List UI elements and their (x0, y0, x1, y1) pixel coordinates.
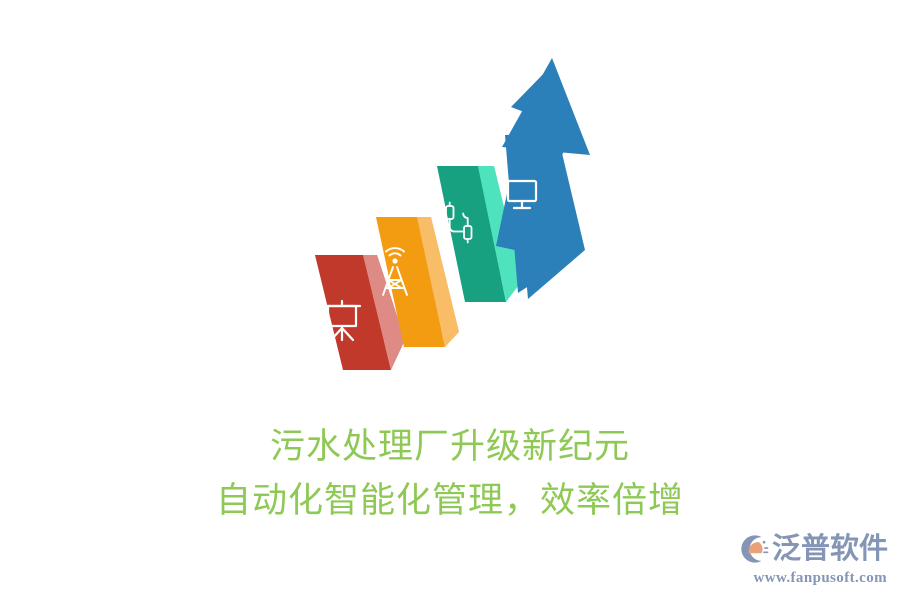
headline-block: 污水处理厂升级新纪元 自动化智能化管理，效率倍增 (0, 424, 900, 524)
brand-name: 泛普软件 (772, 532, 888, 566)
brand-logo-row: 泛普软件 (738, 530, 888, 568)
brand-url[interactable]: www.fanpusoft.com (738, 568, 888, 588)
headline-secondary: 自动化智能化管理，效率倍增 (0, 478, 900, 524)
promo-banner-canvas: 污水处理厂升级新纪元 自动化智能化管理，效率倍增 泛普软件 www.fanpus… (0, 0, 900, 600)
brand-logo[interactable]: 泛普软件 www.fanpusoft.com (738, 530, 888, 592)
ascending-arrow-graphic (300, 50, 600, 390)
headline-primary: 污水处理厂升级新纪元 (0, 424, 900, 478)
fanpu-circle-mark-icon (736, 532, 770, 566)
